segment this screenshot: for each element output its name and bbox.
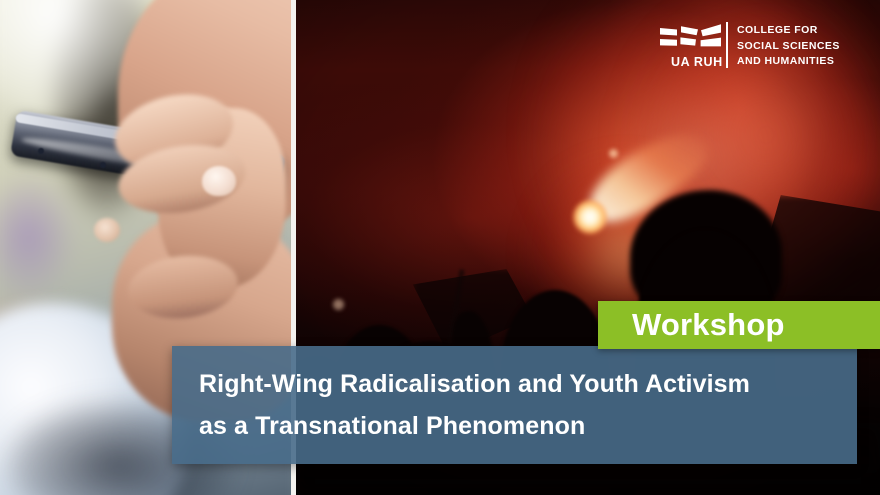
event-title-line-1: Right-Wing Radicalisation and Youth Acti… xyxy=(199,363,831,405)
event-title-banner: Right-Wing Radicalisation and Youth Acti… xyxy=(172,346,857,464)
svg-text:UA RUHR: UA RUHR xyxy=(671,55,722,69)
logo-divider-rule xyxy=(726,22,728,68)
workshop-badge-label: Workshop xyxy=(598,307,785,343)
smartphone-port-b xyxy=(100,162,106,168)
logo-institution-line-3: AND HUMANITIES xyxy=(737,54,840,70)
event-title-line-2: as a Transnational Phenomenon xyxy=(199,405,831,447)
workshop-badge: Workshop xyxy=(598,301,880,349)
ua-ruhr-logo-mark-icon: UA RUHR xyxy=(660,22,722,70)
poster-root: UA RUHR COLLEGE FOR SOCIAL SCIENCES AND … xyxy=(0,0,880,495)
logo-institution-name: COLLEGE FOR SOCIAL SCIENCES AND HUMANITI… xyxy=(737,22,840,70)
logo-institution-line-2: SOCIAL SCIENCES xyxy=(737,39,840,55)
event-title-inner: Right-Wing Radicalisation and Youth Acti… xyxy=(172,346,857,447)
left-photo-fingernail xyxy=(202,166,236,196)
logo-institution-line-1: COLLEGE FOR xyxy=(737,23,840,39)
left-photo-thumbnail xyxy=(94,218,120,242)
ua-ruhr-college-logo: UA RUHR COLLEGE FOR SOCIAL SCIENCES AND … xyxy=(660,22,840,70)
smartphone-port-a xyxy=(38,148,44,154)
